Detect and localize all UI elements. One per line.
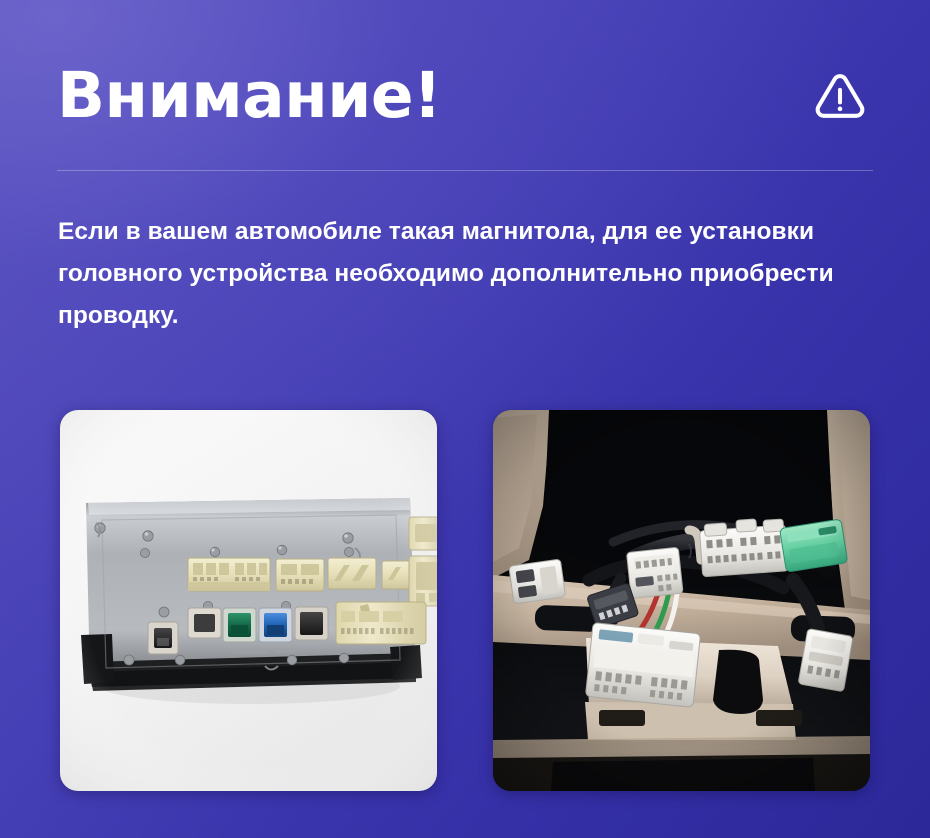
dashboard-wiring-photo (493, 410, 870, 791)
slide-header: Внимание! (57, 52, 873, 138)
header-divider (57, 170, 873, 171)
warning-slide: Внимание! Если в вашем автомобиле такая … (0, 0, 930, 838)
head-unit-rear-photo (60, 410, 437, 791)
photo-gallery (60, 410, 870, 791)
page-title: Внимание! (57, 64, 441, 127)
warning-triangle-icon (813, 68, 867, 122)
warning-paragraph: Если в вашем автомобиле такая магнитола,… (58, 211, 880, 337)
